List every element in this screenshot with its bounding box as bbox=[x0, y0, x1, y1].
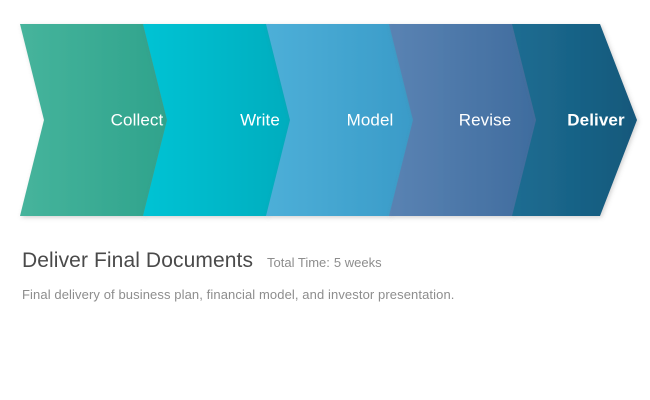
total-time-value: 5 weeks bbox=[334, 255, 382, 270]
chevron-step-band: Collect Write Model Revise Deliver bbox=[0, 0, 650, 232]
caption-headline-row: Deliver Final Documents Total Time:5 wee… bbox=[22, 248, 622, 273]
chevron-shapes bbox=[0, 0, 650, 232]
process-diagram: Collect Write Model Revise Deliver Deliv… bbox=[0, 0, 650, 400]
total-time-meta: Total Time:5 weeks bbox=[267, 255, 382, 271]
chevron-step-0[interactable] bbox=[20, 24, 168, 216]
caption-description: Final delivery of business plan, financi… bbox=[22, 286, 622, 303]
page-title: Deliver Final Documents bbox=[22, 248, 253, 273]
total-time-label: Total Time: bbox=[267, 255, 330, 270]
caption-block: Deliver Final Documents Total Time:5 wee… bbox=[22, 248, 622, 303]
